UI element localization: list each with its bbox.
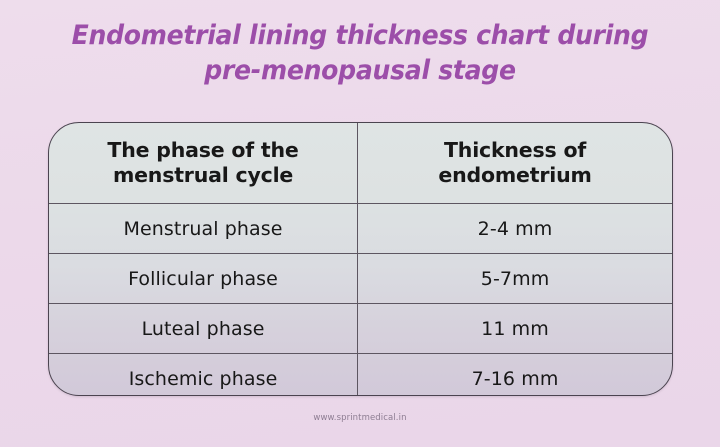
- page-title-line-2: pre-menopausal stage: [25, 53, 695, 88]
- column-header-thickness: Thickness of endometrium: [358, 123, 672, 204]
- table-row: Ischemic phase 7-16 mm: [49, 354, 672, 397]
- thickness-table: The phase of the menstrual cycle Thickne…: [49, 123, 672, 396]
- infographic-canvas: Endometrial lining thickness chart durin…: [0, 0, 720, 447]
- page-title-line-1: Endometrial lining thickness chart durin…: [25, 18, 695, 53]
- page-title: Endometrial lining thickness chart durin…: [0, 18, 720, 88]
- table-row: Menstrual phase 2-4 mm: [49, 204, 672, 254]
- cell-thickness: 7-16 mm: [358, 354, 672, 397]
- thickness-table-container: The phase of the menstrual cycle Thickne…: [48, 122, 673, 396]
- table-row: Luteal phase 11 mm: [49, 304, 672, 354]
- cell-thickness: 5-7mm: [358, 254, 672, 304]
- column-header-phase: The phase of the menstrual cycle: [49, 123, 358, 204]
- column-header-phase-line-1: The phase of the: [59, 138, 347, 163]
- cell-thickness: 2-4 mm: [358, 204, 672, 254]
- cell-phase: Luteal phase: [49, 304, 358, 354]
- cell-thickness: 11 mm: [358, 304, 672, 354]
- table-row: Follicular phase 5-7mm: [49, 254, 672, 304]
- cell-phase: Menstrual phase: [49, 204, 358, 254]
- cell-phase: Follicular phase: [49, 254, 358, 304]
- source-attribution: www.sprintmedical.in: [0, 413, 720, 423]
- cell-phase: Ischemic phase: [49, 354, 358, 397]
- column-header-phase-line-2: menstrual cycle: [59, 163, 347, 188]
- column-header-thickness-line-2: endometrium: [368, 163, 662, 188]
- column-header-thickness-line-1: Thickness of: [368, 138, 662, 163]
- table-header-row: The phase of the menstrual cycle Thickne…: [49, 123, 672, 204]
